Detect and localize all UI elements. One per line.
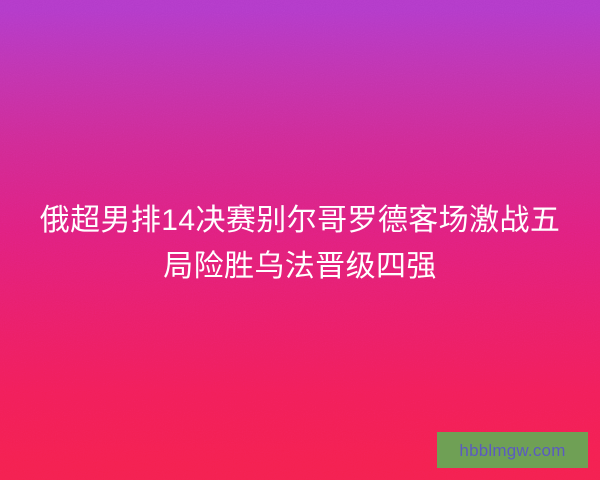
headline-text: 俄超男排14决赛别尔哥罗德客场激战五 局险胜乌法晋级四强	[0, 198, 600, 290]
watermark-badge: hbblmgw.com	[437, 432, 588, 468]
headline-line-2: 局险胜乌法晋级四强	[0, 244, 600, 290]
image-canvas: 俄超男排14决赛别尔哥罗德客场激战五 局险胜乌法晋级四强 hbblmgw.com	[0, 0, 600, 480]
watermark-url-text: hbblmgw.com	[459, 442, 565, 459]
headline-line-1: 俄超男排14决赛别尔哥罗德客场激战五	[0, 198, 600, 244]
